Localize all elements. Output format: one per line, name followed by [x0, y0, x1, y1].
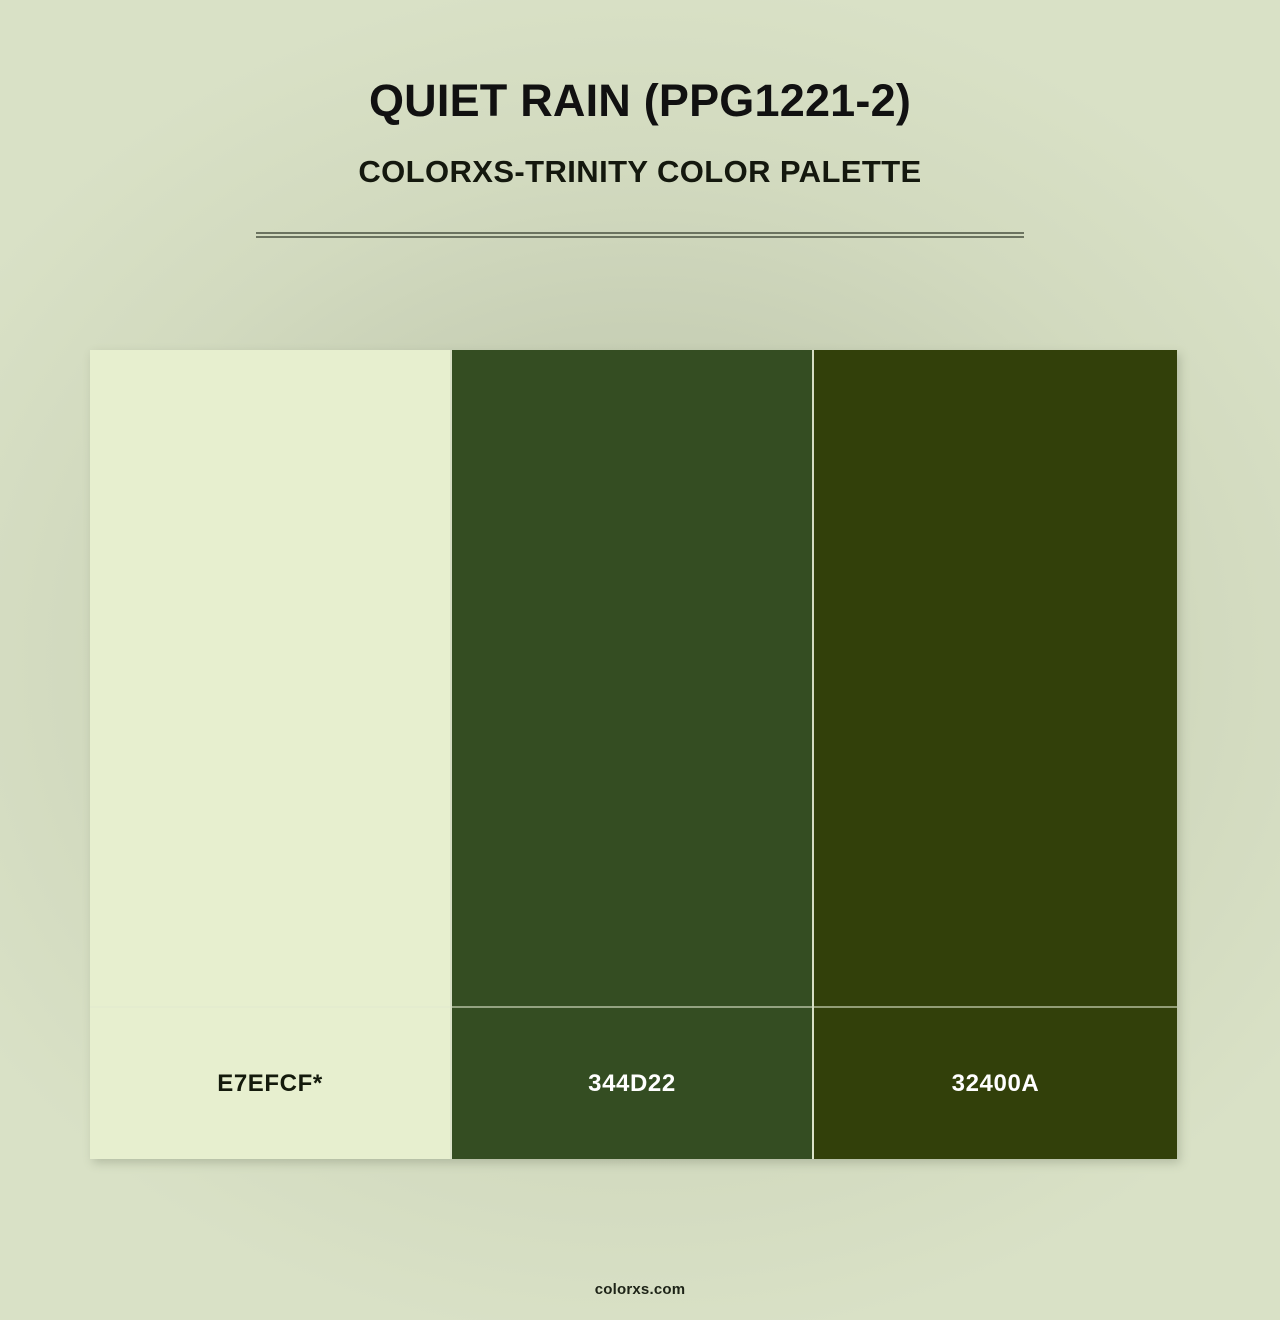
swatch-color-block[interactable]: [90, 350, 450, 1008]
footer-site-label: colorxs.com: [595, 1281, 686, 1298]
divider-line-top: [256, 232, 1024, 234]
title-divider: [256, 232, 1024, 238]
swatch-label-area: 32400A: [814, 1008, 1177, 1159]
divider-line-bottom: [256, 236, 1024, 238]
color-palette: E7EFCF* 344D22 32400A: [90, 350, 1177, 1159]
swatch-column[interactable]: E7EFCF*: [90, 350, 452, 1159]
page-title: QUIET RAIN (PPG1221-2): [0, 76, 1280, 126]
palette-page: QUIET RAIN (PPG1221-2) COLORXS-TRINITY C…: [0, 0, 1280, 1320]
swatch-label-area: E7EFCF*: [90, 1008, 450, 1159]
swatch-column[interactable]: 344D22: [452, 350, 814, 1159]
swatch-hex-label: 344D22: [588, 1072, 676, 1096]
swatch-color-block[interactable]: [814, 350, 1177, 1008]
swatch-color-block[interactable]: [452, 350, 812, 1008]
swatch-hex-label: 32400A: [952, 1072, 1040, 1096]
header: QUIET RAIN (PPG1221-2) COLORXS-TRINITY C…: [0, 0, 1280, 189]
swatch-column[interactable]: 32400A: [814, 350, 1177, 1159]
swatch-label-area: 344D22: [452, 1008, 812, 1159]
page-subtitle: COLORXS-TRINITY COLOR PALETTE: [0, 155, 1280, 189]
footer: colorxs.com: [0, 1258, 1280, 1320]
swatch-hex-label: E7EFCF*: [217, 1072, 323, 1096]
